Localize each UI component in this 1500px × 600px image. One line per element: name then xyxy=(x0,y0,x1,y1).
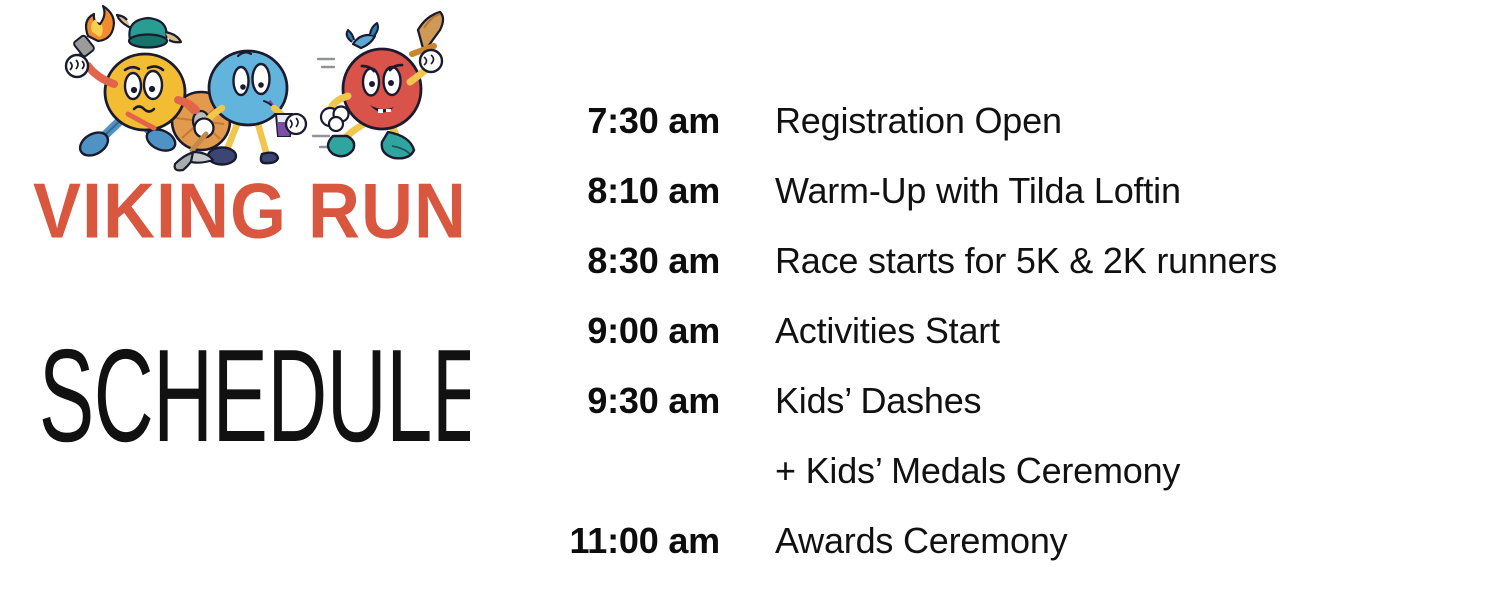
viking-run-logo: VIKING RUN xyxy=(30,4,470,249)
schedule-row-time: 11:00 am xyxy=(520,520,775,562)
schedule-row: 9:00 am Activities Start xyxy=(520,310,1500,380)
viking-helmet-icon xyxy=(117,15,181,48)
schedule-row-time: 9:00 am xyxy=(520,310,775,352)
left-column: VIKING RUN SCHEDULE xyxy=(0,0,520,600)
schedule-row: 8:30 am Race starts for 5K & 2K runners xyxy=(520,240,1500,310)
red-viking-character xyxy=(313,12,443,158)
schedule-row: 9:30 am Kids’ Dashes xyxy=(520,380,1500,450)
schedule-row-description: + Kids’ Medals Ceremony xyxy=(775,450,1180,492)
schedule-row: 7:30 am Registration Open xyxy=(520,100,1500,170)
schedule-list: 7:30 am Registration Open 8:10 am Warm-U… xyxy=(520,100,1500,590)
page-title-text: SCHEDULE xyxy=(39,325,470,455)
schedule-row: + Kids’ Medals Ceremony xyxy=(520,450,1500,520)
viking-run-wordmark-text: VIKING RUN xyxy=(33,174,467,246)
schedule-poster: VIKING RUN SCHEDULE 7:30 am Registration… xyxy=(0,0,1500,600)
drink-cup-icon xyxy=(276,114,306,136)
schedule-row-description: Warm-Up with Tilda Loftin xyxy=(775,170,1181,212)
schedule-row-time: 9:30 am xyxy=(520,380,775,422)
viking-run-wordmark: VIKING RUN xyxy=(30,174,470,246)
schedule-row-description: Registration Open xyxy=(775,100,1062,142)
schedule-row-description: Activities Start xyxy=(775,310,1000,352)
horned-cap-icon xyxy=(347,23,378,48)
wooden-sword-icon xyxy=(412,12,443,72)
viking-characters-illustration xyxy=(30,4,470,189)
schedule-row-description: Race starts for 5K & 2K runners xyxy=(775,240,1277,282)
schedule-row-description: Kids’ Dashes xyxy=(775,380,981,422)
schedule-row-time: 8:30 am xyxy=(520,240,775,282)
schedule-row-description: Awards Ceremony xyxy=(775,520,1067,562)
schedule-row-time: 8:10 am xyxy=(520,170,775,212)
schedule-row: 11:00 am Awards Ceremony xyxy=(520,520,1500,590)
schedule-row-time: 7:30 am xyxy=(520,100,775,142)
schedule-row: 8:10 am Warm-Up with Tilda Loftin xyxy=(520,170,1500,240)
dust-puff-icon xyxy=(321,107,349,132)
page-title: SCHEDULE xyxy=(30,325,470,455)
